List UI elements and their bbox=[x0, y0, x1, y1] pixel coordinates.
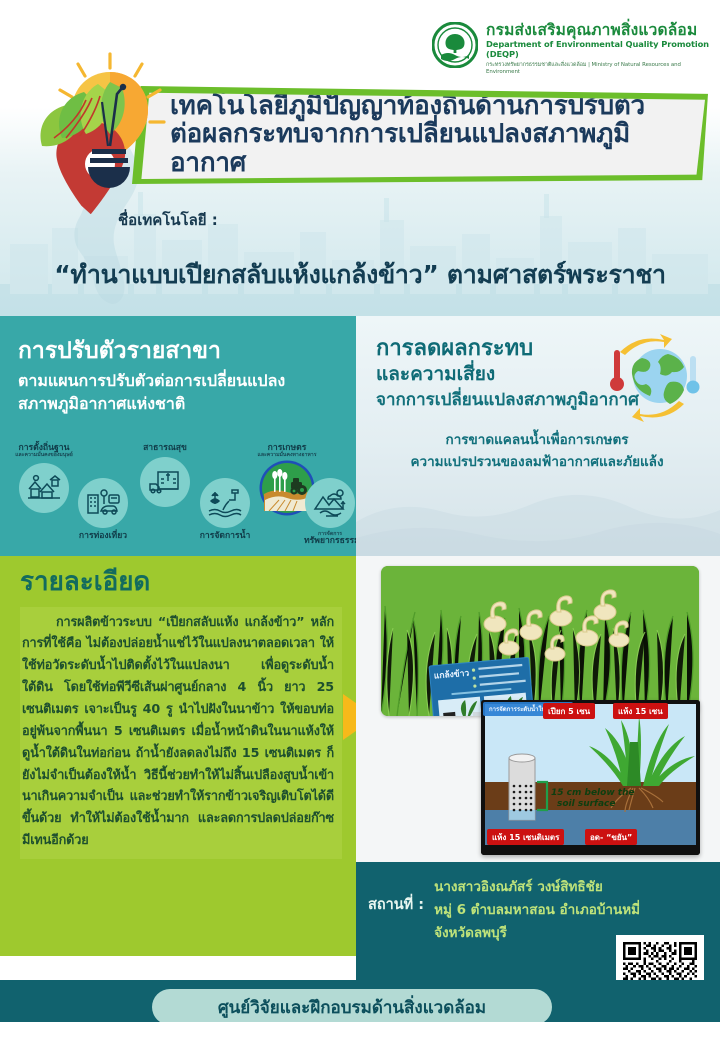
risk-item: การขาดแคลนน้ำเพื่อการเกษตร bbox=[376, 430, 698, 452]
bulb-leaf-map-pin-icon bbox=[14, 42, 186, 214]
ministry-name: กระทรวงทรัพยากรธรรมชาติและสิ่งแวดล้อม | … bbox=[486, 61, 712, 75]
detail-section: รายละเอียด การผลิตข้าวระบบ “เปียกสลับแห้… bbox=[0, 556, 356, 956]
page-title-line2: ต่อผลกระทบจากการเปลี่ยนแปลงสภาพภูมิอากาศ bbox=[170, 120, 693, 178]
technology-name-label: ชื่อเทคโนโลยี : bbox=[118, 208, 218, 232]
settlement-houses-icon bbox=[19, 463, 69, 513]
sector-caption-tourism: การท่องเที่ยว bbox=[70, 532, 136, 541]
main-title-banner: เทคโนโลยีภูมิปัญญาท้องถิ่นด้านการปรับตัว… bbox=[132, 86, 708, 184]
adaptation-subheading-line1: ตามแผนการปรับตัวต่อการเปลี่ยนแปลง bbox=[18, 370, 340, 393]
place-label: สถานที่ : bbox=[368, 876, 424, 946]
sector-subcaption-settlement: และความมั่นคงของมนุษย์ bbox=[12, 453, 76, 458]
sector-subcaption-agriculture: และความมั่นคงทางอาหาร bbox=[248, 453, 326, 458]
place-line: หมู่ 6 ตำบลมหาสอน อำเภอบ้านหมี่ bbox=[434, 899, 640, 922]
sector-icon-row: การตั้งถิ่นฐาน และความมั่นคงของมนุษย์ bbox=[4, 444, 356, 552]
poster-root: กรมส่งเสริมคุณภาพสิ่งแวดล้อม Department … bbox=[0, 0, 720, 1040]
banner-white-face: เทคโนโลยีภูมิปัญญาท้องถิ่นด้านการปรับตัว… bbox=[138, 91, 705, 179]
hills-decoration bbox=[356, 464, 720, 556]
deqp-tree-seal-icon bbox=[432, 22, 478, 68]
deqp-organization-logo: กรมส่งเสริมคุณภาพสิ่งแวดล้อม Department … bbox=[432, 20, 712, 78]
footer-label: ศูนย์วิจัยและฝึกอบรมด้านสิ่งแวดล้อม bbox=[218, 994, 486, 1021]
sector-caption-natural-resources: ทรัพยากรธรรมชาติ bbox=[304, 537, 356, 546]
diagram-label-note: อด- “ขยัน” bbox=[585, 829, 637, 845]
sector-item-natural-resources[interactable]: การจัดการ ทรัพยากรธรรมชาติ bbox=[304, 478, 356, 547]
org-name-english: Department of Environmental Quality Prom… bbox=[486, 39, 712, 59]
footer-bottom-white-strip bbox=[0, 1022, 720, 1040]
poster-header: กรมส่งเสริมคุณภาพสิ่งแวดล้อม Department … bbox=[0, 0, 720, 316]
footer-center-pill[interactable]: ศูนย์วิจัยและฝึกอบรมด้านสิ่งแวดล้อม bbox=[152, 989, 552, 1025]
diagram-label-dry-top: แห้ง 15 เซน bbox=[613, 703, 668, 719]
place-lines: นางสาวอิงณภัสร์ วงษ์สิทธิชัย หมู่ 6 ตำบล… bbox=[434, 876, 640, 946]
place-info-box: สถานที่ : นางสาวอิงณภัสร์ วงษ์สิทธิชัย ห… bbox=[356, 862, 720, 980]
water-management-tap-icon bbox=[200, 478, 250, 528]
sector-caption-water-management: การจัดการน้ำ bbox=[192, 532, 258, 541]
place-line: จังหวัดลพบุรี bbox=[434, 922, 640, 945]
sector-item-settlement[interactable]: การตั้งถิ่นฐาน และความมั่นคงของมนุษย์ bbox=[12, 444, 76, 513]
public-health-hospital-icon bbox=[140, 457, 190, 507]
natural-resources-mountain-icon bbox=[305, 478, 355, 528]
place-row: สถานที่ : นางสาวอิงณภัสร์ วงษ์สิทธิชัย ห… bbox=[368, 876, 640, 946]
adaptation-sectors-panel: การปรับตัวรายสาขา ตามแผนการปรับตัวต่อการ… bbox=[0, 316, 356, 556]
sector-caption-public-health: สาธารณสุข bbox=[132, 444, 198, 453]
technology-name-value: “ทำนาแบบเปียกสลับแห้งแกล้งข้าว” ตามศาสตร… bbox=[0, 255, 720, 295]
globe-thermometer-recycle-icon bbox=[598, 330, 706, 426]
rice-field-with-ducks-photo: แกล้งข้าว bbox=[381, 566, 699, 716]
detail-body-text: การผลิตข้าวระบบ “เปียกสลับแห้ง แกล้งข้าว… bbox=[20, 607, 342, 859]
sector-item-tourism[interactable]: การท่องเที่ยว bbox=[70, 478, 136, 541]
tourism-city-car-icon bbox=[78, 478, 128, 528]
adaptation-heading: การปรับตัวรายสาขา bbox=[18, 338, 340, 364]
diagram-label-wet: เปียก 5 เซน bbox=[543, 703, 595, 719]
detail-heading: รายละเอียด bbox=[20, 568, 342, 597]
adaptation-subheading-line2: สภาพภูมิอากาศแห่งชาติ bbox=[18, 393, 340, 416]
diagram-label-dry-bottom: แห้ง 15 เซนติเมตร bbox=[487, 829, 564, 845]
svg-text:soil surface: soil surface bbox=[557, 799, 615, 809]
sector-item-public-health[interactable]: สาธารณสุข bbox=[132, 444, 198, 507]
org-name-thai: กรมส่งเสริมคุณภาพสิ่งแวดล้อม bbox=[486, 22, 712, 38]
water-level-diagram: 15 cm below the soil surface การจัดการระ… bbox=[481, 700, 700, 855]
place-line: นางสาวอิงณภัสร์ วงษ์สิทธิชัย bbox=[434, 876, 640, 899]
mitigation-risk-panel: การลดผลกระทบ และความเสี่ยง จากการเปลี่ยน… bbox=[356, 316, 720, 556]
svg-text:15 cm below the: 15 cm below the bbox=[551, 788, 635, 798]
